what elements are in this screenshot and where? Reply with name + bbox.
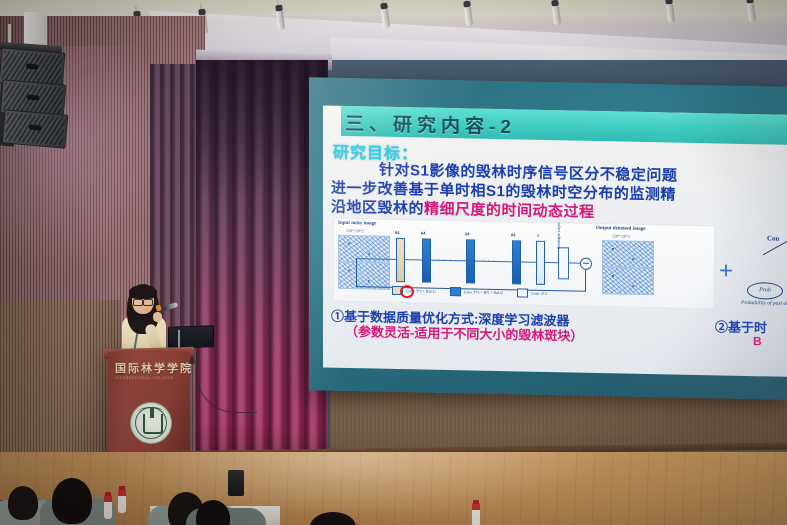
conv-block-5-caption: 1 <box>537 233 539 238</box>
output-dims-label: 128*128*2 <box>612 233 630 238</box>
output-image-label: Output denoised image <box>596 226 645 232</box>
probability-caption: Probability of past ab <box>741 300 787 307</box>
water-bottle <box>118 489 126 513</box>
water-bottle <box>104 495 112 519</box>
legend-item: Conv 3*3 <box>517 288 547 298</box>
probability-subdiagram: Con Prob Probability of past ab <box>741 232 787 309</box>
plus-operator: + <box>719 257 733 285</box>
left-lower-wall <box>0 300 120 460</box>
audience-head <box>52 478 92 524</box>
glasses-icon <box>133 299 153 304</box>
water-bottle <box>472 503 480 525</box>
input-dims-label: 128*128*2 <box>346 228 364 233</box>
skip-connection-down <box>356 258 357 287</box>
projection-screen[interactable]: 三、研究内容-2 研究目标： 针对S1影像的毁林时序信号区分不稳定问题 进一步改… <box>309 77 787 400</box>
presentation-slide: 三、研究内容-2 研究目标： 针对S1影像的毁林时序信号区分不稳定问题 进一步改… <box>323 105 787 376</box>
legend-item: Conv 3*3 + BN + ReLU <box>450 287 504 297</box>
red-annotation-circle <box>400 285 414 298</box>
conv-block-4 <box>512 240 521 284</box>
conditional-title: Con <box>767 234 779 242</box>
podium-institution-name: 国际林学学院 <box>115 360 193 376</box>
ellipsis-1: · · · <box>438 257 452 263</box>
conv-block-1-caption: 64 <box>395 230 399 235</box>
output-sar-image-top <box>602 240 654 268</box>
floor-equipment-box <box>228 470 244 496</box>
university-emblem <box>130 402 172 444</box>
speaker-cabinet <box>2 109 69 148</box>
probability-node: Prob <box>747 282 783 300</box>
goal-line-3-highlight: 精细尺度的时间动态过程 <box>424 201 595 221</box>
presenter-hand <box>153 312 162 322</box>
conv-block-4-caption: 64 <box>511 232 515 237</box>
skip-connection-up <box>585 270 586 292</box>
rigging-rod <box>44 16 47 46</box>
lecture-hall-photo: 三、研究内容-2 研究目标： 针对S1影像的毁林时序信号区分不稳定问题 进一步改… <box>0 0 787 525</box>
residual-subtract-node <box>580 258 592 270</box>
conv-block-5 <box>536 241 545 285</box>
conv-block-3 <box>466 239 475 283</box>
legend-swatch <box>450 287 461 296</box>
goal-line-3-prefix: 沿地区毁林的 <box>331 199 424 218</box>
reshape-layer-box <box>558 247 569 279</box>
input-image-label: Input noisy image <box>338 221 376 227</box>
conv-block-2 <box>422 238 431 282</box>
denoiser-network-diagram: Input noisy image 128*128*2 64 64 · · · … <box>333 218 715 310</box>
presenter-fringe <box>129 285 157 299</box>
output-sar-image-bottom <box>602 267 654 295</box>
amplifier-box <box>24 12 44 46</box>
legend-label: Conv 3*3 <box>531 291 547 296</box>
audience-head <box>8 486 38 520</box>
conclusion-line-2: （参数灵活-适用于不同大小的毁林斑块） <box>345 321 583 345</box>
conclusion-line-4: B <box>753 334 762 348</box>
conv-block-1 <box>396 238 405 282</box>
podium-institution-subtext: INTERNATIONAL COLLEGE <box>115 376 174 380</box>
conv-block-2-caption: 64 <box>421 230 425 235</box>
microphone-accent-ring <box>155 304 161 311</box>
legend-label: Conv 3*3 + BN + ReLU <box>464 289 504 295</box>
diagram-legend: Conv 3*3 + ReLU Conv 3*3 + BN + ReLU Con… <box>392 286 547 298</box>
legend-swatch <box>517 288 528 297</box>
ellipsis-2: · · · <box>482 258 496 264</box>
reshape-layer-label: Reshape Layer <box>556 219 561 249</box>
conv-block-3-caption: 64 <box>465 231 469 236</box>
slide-title-text: 三、研究内容-2 <box>345 109 516 139</box>
